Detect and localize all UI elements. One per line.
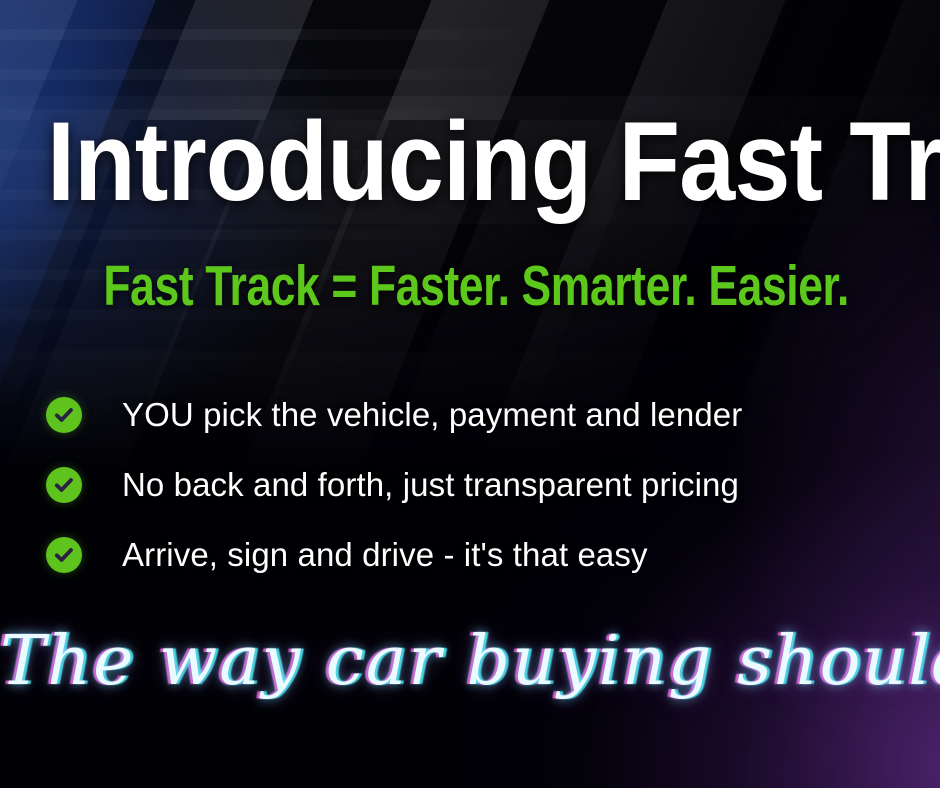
list-item: Arrive, sign and drive - it's that easy: [46, 520, 906, 590]
list-item: No back and forth, just transparent pric…: [46, 450, 906, 520]
list-item-label: No back and forth, just transparent pric…: [122, 467, 739, 503]
check-circle-icon: [46, 467, 82, 503]
list-item-label: YOU pick the vehicle, payment and lender: [122, 397, 742, 433]
page-title: Introducing Fast Track: [47, 106, 893, 218]
tagline-text: The way car buying should be.: [0, 612, 940, 712]
check-circle-icon: [46, 537, 82, 573]
promo-graphic: Introducing Fast Track Fast Track = Fast…: [0, 0, 940, 788]
list-item: YOU pick the vehicle, payment and lender: [46, 380, 906, 450]
subtitle: Fast Track = Faster. Smarter. Easier.: [103, 258, 836, 315]
tagline: The way car buying should be. The way ca…: [0, 612, 940, 722]
benefit-list: YOU pick the vehicle, payment and lender…: [46, 380, 906, 590]
check-circle-icon: [46, 397, 82, 433]
list-item-label: Arrive, sign and drive - it's that easy: [122, 537, 648, 573]
